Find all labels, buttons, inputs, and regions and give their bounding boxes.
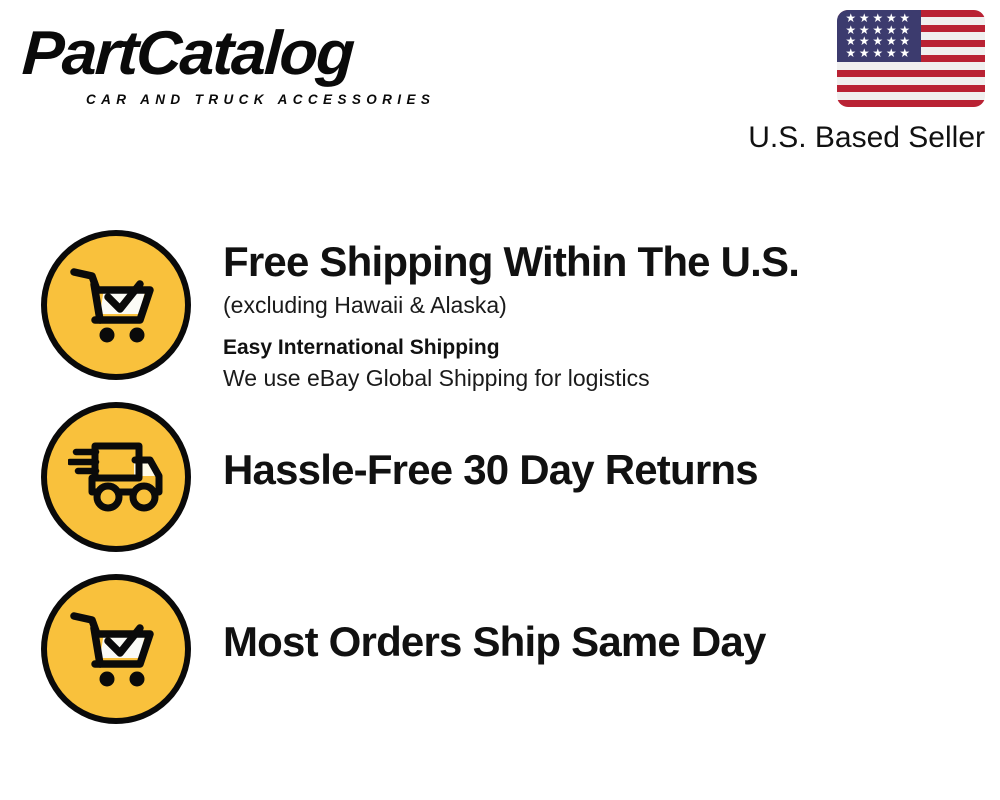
feature-text: Hassle-Free 30 Day Returns (223, 402, 1000, 494)
us-based-seller-block: U.S. Based Seller (837, 10, 985, 107)
feature-row: Free Shipping Within The U.S. (excluding… (0, 230, 1000, 393)
page-header: PartCatalog CAR AND TRUCK ACCESSORIES (0, 0, 1000, 175)
flag-stripe (837, 100, 985, 107)
feature-title: Hassle-Free 30 Day Returns (223, 446, 1000, 494)
delivery-truck-icon (41, 402, 191, 552)
delivery-truck-glyph (68, 440, 164, 514)
us-flag-icon (837, 10, 985, 107)
feature-row: Hassle-Free 30 Day Returns (0, 402, 1000, 552)
flag-stripe (837, 62, 985, 69)
flag-stripe (837, 85, 985, 92)
feature-subtitle-strong: Easy International Shipping (223, 334, 1000, 362)
flag-stripe (837, 77, 985, 84)
brand-tagline: CAR AND TRUCK ACCESSORIES (86, 92, 435, 107)
feature-text: Most Orders Ship Same Day (223, 574, 1000, 666)
feature-subtitle-detail: We use eBay Global Shipping for logistic… (223, 363, 1000, 393)
us-based-seller-label: U.S. Based Seller (748, 121, 985, 155)
feature-text: Free Shipping Within The U.S. (excluding… (223, 230, 1000, 393)
feature-title: Free Shipping Within The U.S. (223, 238, 1000, 286)
shopping-cart-check-glyph (70, 608, 162, 690)
brand-logo[interactable]: PartCatalog CAR AND TRUCK ACCESSORIES (24, 22, 494, 117)
feature-subtitle: (excluding Hawaii & Alaska) (223, 290, 1000, 320)
shopping-cart-check-icon (41, 230, 191, 380)
shopping-cart-check-glyph (70, 264, 162, 346)
shopping-cart-check-icon (41, 574, 191, 724)
feature-title: Most Orders Ship Same Day (223, 618, 1000, 666)
feature-row: Most Orders Ship Same Day (0, 574, 1000, 724)
brand-wordmark: PartCatalog (21, 22, 504, 86)
flag-canton (837, 10, 921, 62)
flag-stripe (837, 92, 985, 99)
flag-stripe (837, 70, 985, 77)
